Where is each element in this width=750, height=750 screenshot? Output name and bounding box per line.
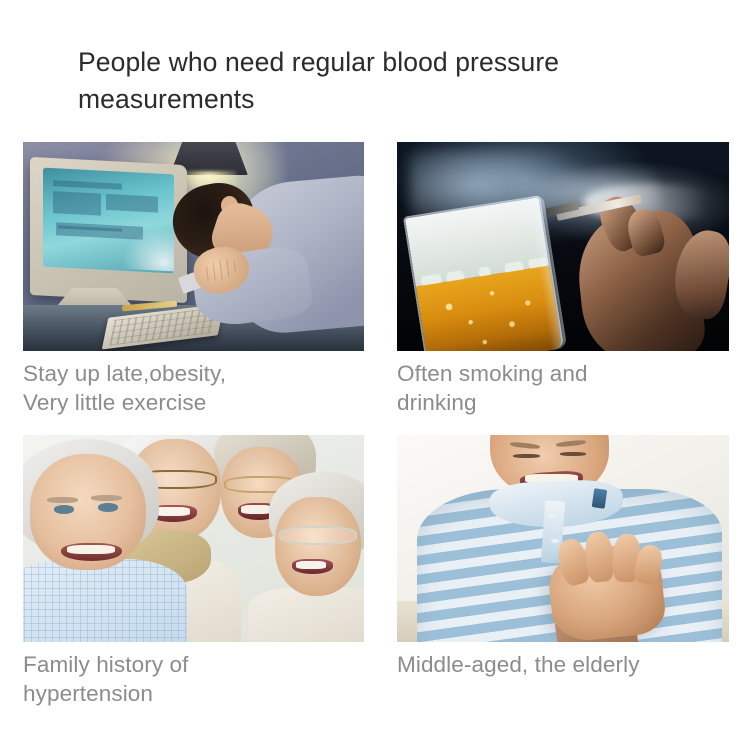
panel-late-nights: Stay up late,obesity, Very little exerci…	[23, 142, 364, 417]
panel-caption: Family history of hypertension	[23, 642, 364, 708]
page-title: People who need regular blood pressure m…	[78, 44, 698, 118]
panel-family-history: Family history of hypertension	[23, 435, 364, 708]
photo-chest-pain	[397, 435, 729, 642]
panel-caption: Often smoking and drinking	[397, 351, 729, 417]
panel-smoking-drinking: Often smoking and drinking	[397, 142, 729, 417]
photo-sleeping-at-computer	[23, 142, 364, 351]
panel-caption: Middle-aged, the elderly	[397, 642, 729, 679]
panel-row-top: Stay up late,obesity, Very little exerci…	[23, 142, 729, 417]
photo-elderly-group	[23, 435, 364, 642]
photo-beer-and-cigarette	[397, 142, 729, 351]
panel-grid: Stay up late,obesity, Very little exerci…	[23, 142, 729, 708]
infographic-page: People who need regular blood pressure m…	[0, 0, 750, 750]
beer-glass	[402, 195, 564, 351]
computer-monitor	[30, 157, 187, 303]
panel-caption: Stay up late,obesity, Very little exerci…	[23, 351, 364, 417]
panel-middle-aged-elderly: Middle-aged, the elderly	[397, 435, 729, 708]
panel-row-bottom: Family history of hypertension	[23, 435, 729, 708]
